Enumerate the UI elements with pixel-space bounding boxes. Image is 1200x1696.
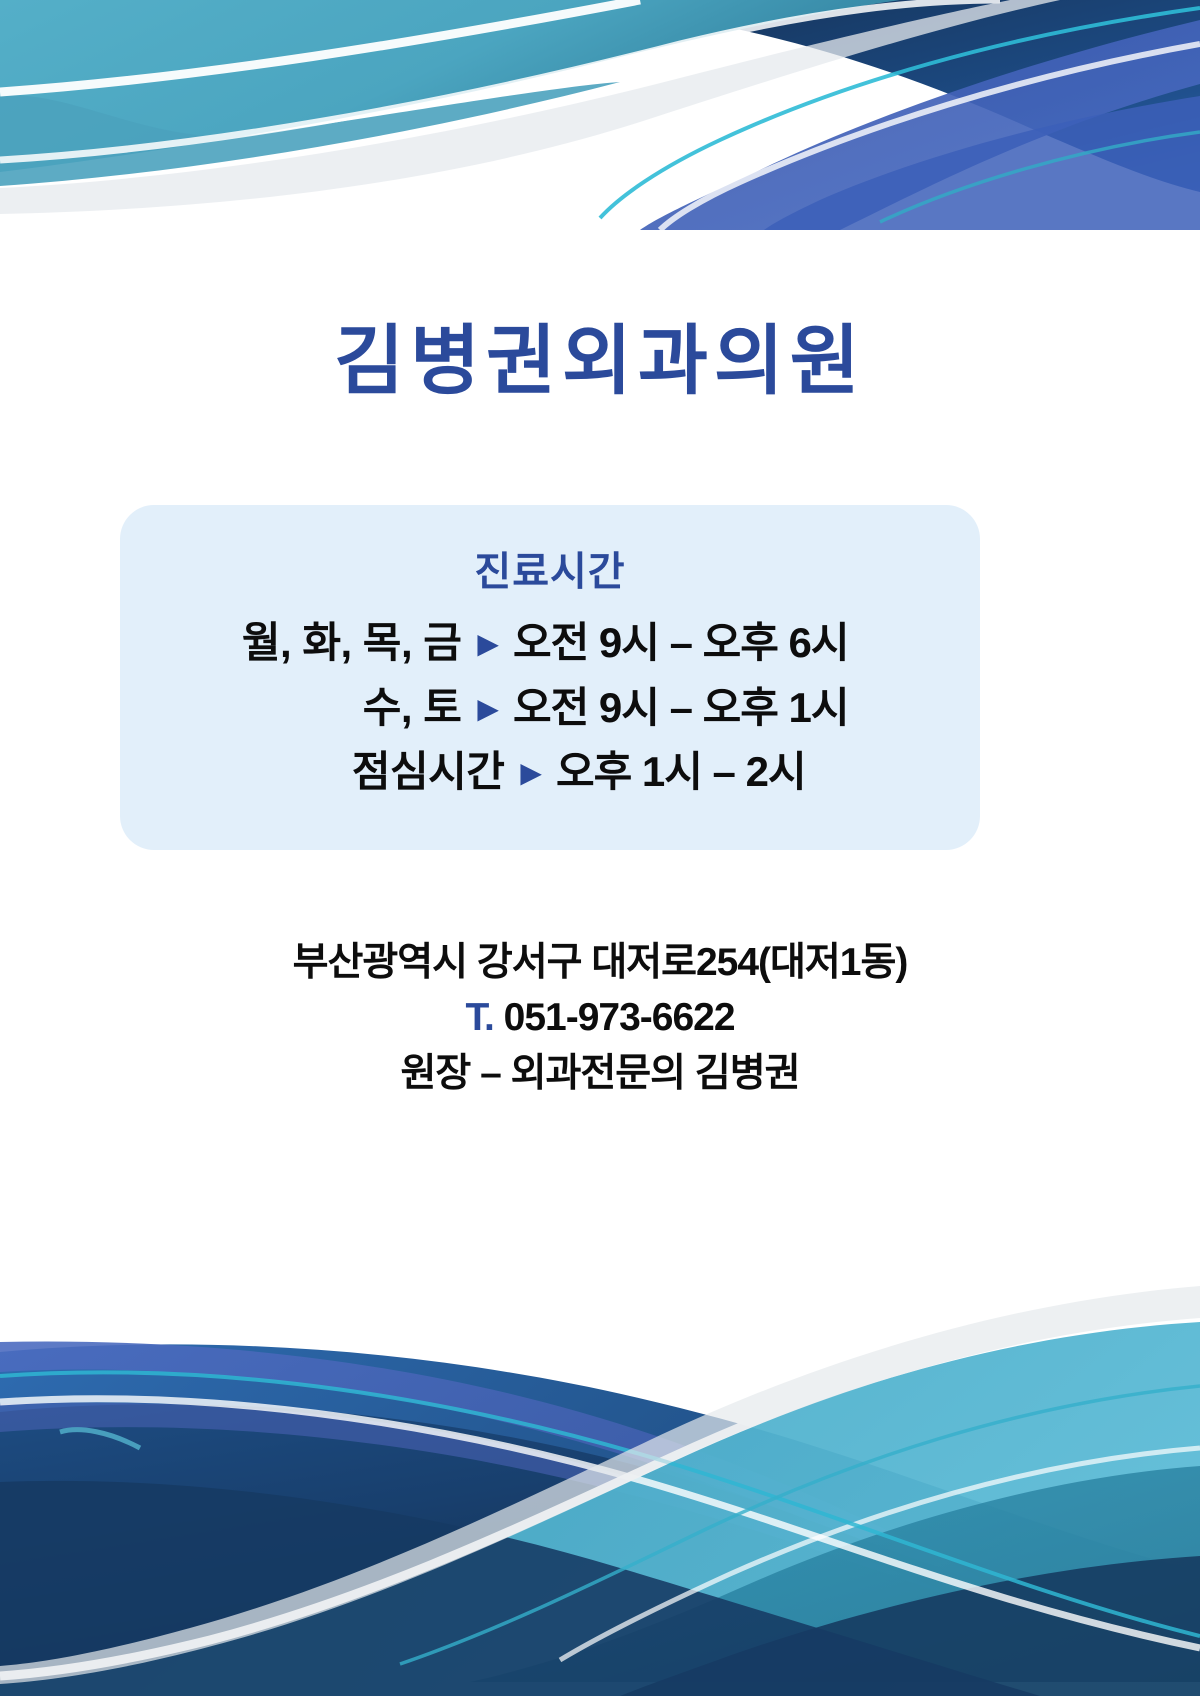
wave-blue-band-bottom — [0, 1344, 1200, 1636]
wave-white-stroke-bottom-1 — [0, 1312, 1200, 1676]
wave-navy-left-bottom — [0, 1481, 1040, 1696]
wave-teal-top — [0, 0, 900, 172]
clinic-name-title: 김병권외과의원 — [0, 320, 1200, 404]
wave-cyan-line-bottom-1 — [0, 1372, 1200, 1636]
clinic-phone: T. 051-973-6622 — [0, 990, 1200, 1045]
wave-cyan-line-bottom-2 — [400, 1386, 1200, 1664]
triangle-right-icon: ▶ — [477, 690, 499, 728]
wave-teal-band-bottom — [0, 1322, 1200, 1696]
clinic-address: 부산광역시 강서구 대저로254(대저1동) — [0, 935, 1200, 990]
bottom-wave-decoration — [0, 1136, 1200, 1696]
wave-royal-band-bottom — [0, 1342, 1000, 1588]
wave-white-stroke-bottom-3 — [560, 1448, 1200, 1660]
wave-cyan-line-bottom-3 — [60, 1430, 140, 1448]
wave-navy-overlay-bottom — [620, 1556, 1200, 1696]
hours-row: 점심시간 ▶ 오후 1시 – 2시 — [120, 744, 958, 801]
wave-shadow-bottom — [0, 1286, 1200, 1684]
telephone-number: 051-973-6622 — [494, 996, 735, 1039]
wave-royal-top — [640, 20, 1200, 230]
wave-white-stroke-top-1 — [0, 0, 640, 92]
top-wave-decoration — [0, 0, 1200, 230]
hours-days-label: 수, 토 — [229, 680, 461, 737]
hours-days-label: 점심시간 — [272, 744, 504, 801]
wave-navy-bottom — [0, 1379, 1200, 1696]
wave-teal-deep-bottom — [470, 1466, 1200, 1682]
hours-row: 월, 화, 목, 금 ▶ 오전 9시 – 오후 6시 — [120, 615, 958, 672]
contact-block: 부산광역시 강서구 대저로254(대저1동) T. 051-973-6622 원… — [0, 935, 1200, 1101]
telephone-label: T. — [465, 996, 493, 1039]
wave-white-stroke-top-2 — [0, 0, 1000, 160]
hours-time-value: 오전 9시 – 오후 1시 — [513, 680, 849, 737]
triangle-right-icon: ▶ — [477, 625, 499, 663]
wave-white-stroke-bottom-2 — [0, 1399, 1200, 1648]
wave-white-stroke-top-3 — [660, 44, 1200, 230]
hours-days-label: 월, 화, 목, 금 — [229, 615, 461, 672]
hours-row: 수, 토 ▶ 오전 9시 – 오후 1시 — [120, 680, 958, 737]
wave-teal-top-2 — [0, 82, 620, 186]
hours-time-value: 오후 1시 – 2시 — [556, 744, 806, 801]
office-hours-panel: 진료시간 월, 화, 목, 금 ▶ 오전 9시 – 오후 6시 수, 토 ▶ 오… — [120, 505, 980, 850]
wave-cyan-line-top-2 — [880, 132, 1200, 222]
wave-royal-top-2 — [764, 96, 1200, 230]
director-line: 원장 – 외과전문의 김병권 — [0, 1046, 1200, 1101]
hours-time-value: 오전 9시 – 오후 6시 — [513, 615, 849, 672]
wave-shadow-top — [0, 0, 1060, 214]
office-hours-heading: 진료시간 — [120, 539, 980, 597]
wave-cyan-line-top-1 — [600, 8, 1200, 218]
clinic-poster: 김병권외과의원 진료시간 월, 화, 목, 금 ▶ 오전 9시 – 오후 6시 … — [0, 0, 1200, 1696]
office-hours-list: 월, 화, 목, 금 ▶ 오전 9시 – 오후 6시 수, 토 ▶ 오전 9시 … — [120, 615, 980, 801]
wave-royal-band-bottom-2 — [0, 1403, 980, 1606]
triangle-right-icon: ▶ — [520, 754, 542, 792]
wave-navy-top — [560, 0, 1200, 192]
